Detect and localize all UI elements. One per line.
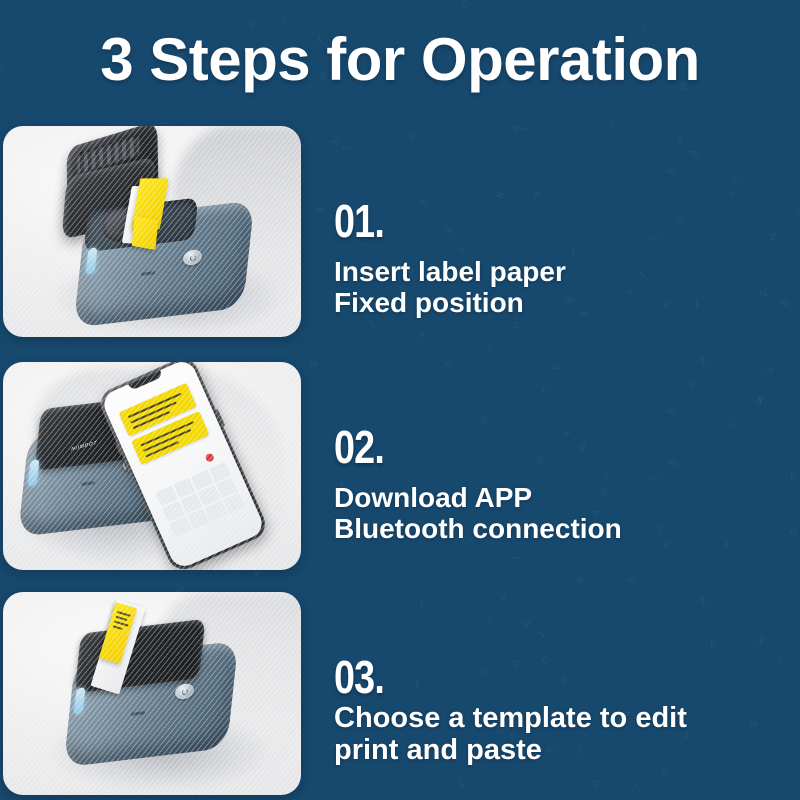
step-description-3: Choose a template to edit print and past… bbox=[334, 702, 687, 767]
scene-printer-open-lid bbox=[3, 126, 301, 337]
label-yellow-tail bbox=[132, 216, 159, 250]
brand-logo: NIIMBOT bbox=[71, 440, 98, 453]
step-image-card-3 bbox=[3, 592, 301, 795]
step-text-3: 03. Choose a template to edit print and … bbox=[334, 592, 794, 795]
step-number-2: 02. bbox=[334, 424, 384, 470]
step-row-2: NIIMBOT bbox=[0, 362, 800, 570]
scene-printer-and-phone: NIIMBOT bbox=[3, 362, 301, 570]
app-record-indicator bbox=[204, 452, 215, 463]
step-row-3: 03. Choose a template to edit print and … bbox=[0, 592, 800, 795]
scene-printer-ejecting-label bbox=[3, 592, 301, 795]
step-image-card-2: NIIMBOT bbox=[3, 362, 301, 570]
step-description-1: Insert label paper Fixed position bbox=[334, 256, 566, 319]
printer-body-1 bbox=[81, 210, 247, 318]
page-title: 3 Steps for Operation bbox=[100, 30, 700, 90]
page-title-bar: 3 Steps for Operation bbox=[0, 0, 800, 120]
step-description-2: Download APP Bluetooth connection bbox=[334, 482, 622, 545]
step-number-1: 01. bbox=[334, 198, 384, 244]
app-tool-grid[interactable] bbox=[155, 462, 244, 538]
step-text-2: 02. Download APP Bluetooth connection bbox=[334, 362, 794, 570]
step-row-1: 01. Insert label paper Fixed position bbox=[0, 126, 800, 337]
step-image-card-1 bbox=[3, 126, 301, 337]
step-text-1: 01. Insert label paper Fixed position bbox=[334, 126, 794, 337]
printer-body-3 bbox=[71, 650, 231, 758]
step-number-3: 03. bbox=[334, 654, 384, 700]
